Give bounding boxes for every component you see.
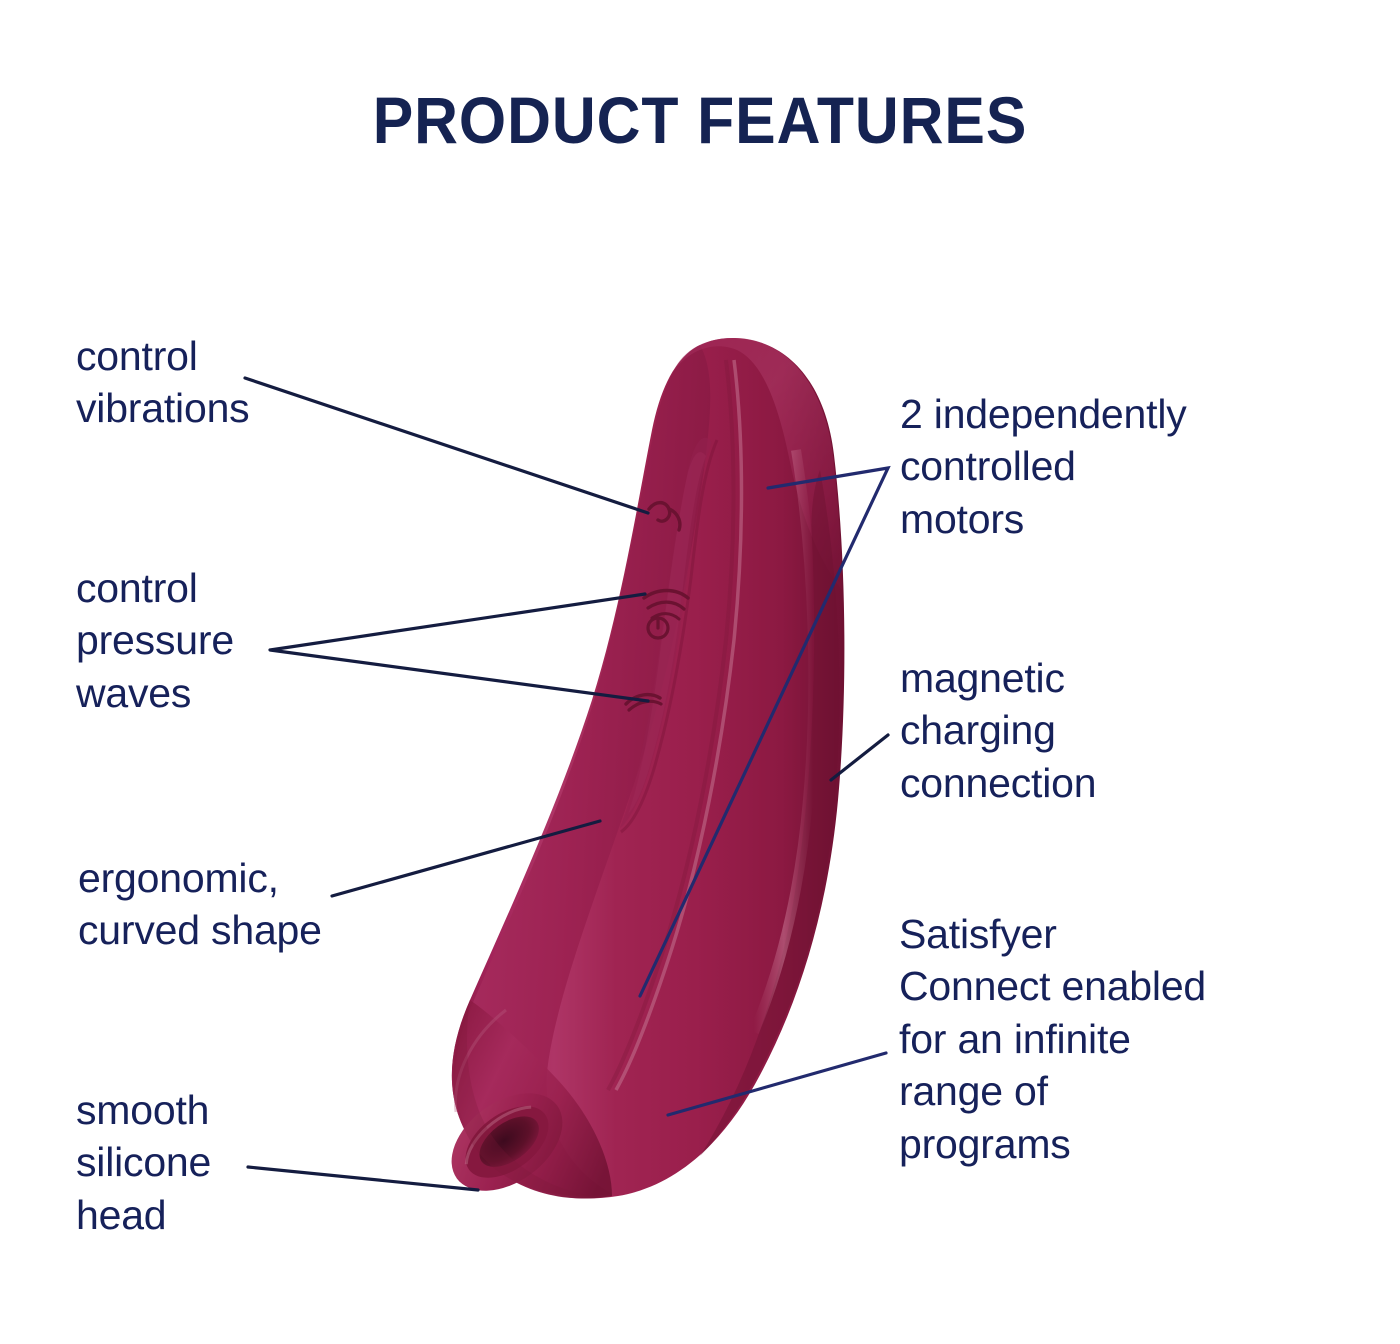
leader-control-vibrations [245, 378, 648, 513]
leader-control-pressure-waves [270, 594, 648, 701]
callout-control-vibrations: control vibrations [76, 330, 249, 435]
callout-magnetic-charging: magnetic charging connection [900, 652, 1096, 809]
leader-smooth-silicone-head [248, 1167, 478, 1190]
callout-satisfyer-connect: Satisfyer Connect enabled for an infinit… [899, 908, 1206, 1170]
callout-smooth-silicone-head: smooth silicone head [76, 1084, 211, 1241]
callout-ergonomic-curved-shape: ergonomic, curved shape [78, 852, 322, 957]
product-features-infographic: PRODUCT FEATURES [0, 0, 1400, 1344]
callout-control-pressure-waves: control pressure waves [76, 562, 234, 719]
product-body [433, 338, 844, 1211]
callout-controlled-motors: 2 independently controlled motors [900, 388, 1187, 545]
